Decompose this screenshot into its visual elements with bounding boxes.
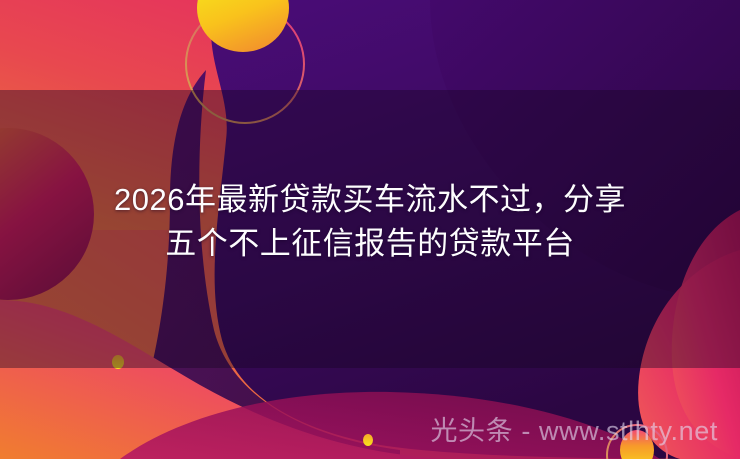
article-cover-image: 2026年最新贷款买车流水不过，分享 五个不上征信报告的贷款平台 光头条 - w… <box>0 0 740 459</box>
cover-title-line-1: 2026年最新贷款买车流水不过，分享 <box>34 178 706 222</box>
decor-dot-bottom <box>363 434 373 446</box>
site-watermark: 光头条 - www.stlhty.net <box>430 415 718 447</box>
cover-title-line-2: 五个不上征信报告的贷款平台 <box>34 222 706 266</box>
decor-dot-left <box>112 355 124 369</box>
cover-title: 2026年最新贷款买车流水不过，分享 五个不上征信报告的贷款平台 <box>0 178 740 266</box>
